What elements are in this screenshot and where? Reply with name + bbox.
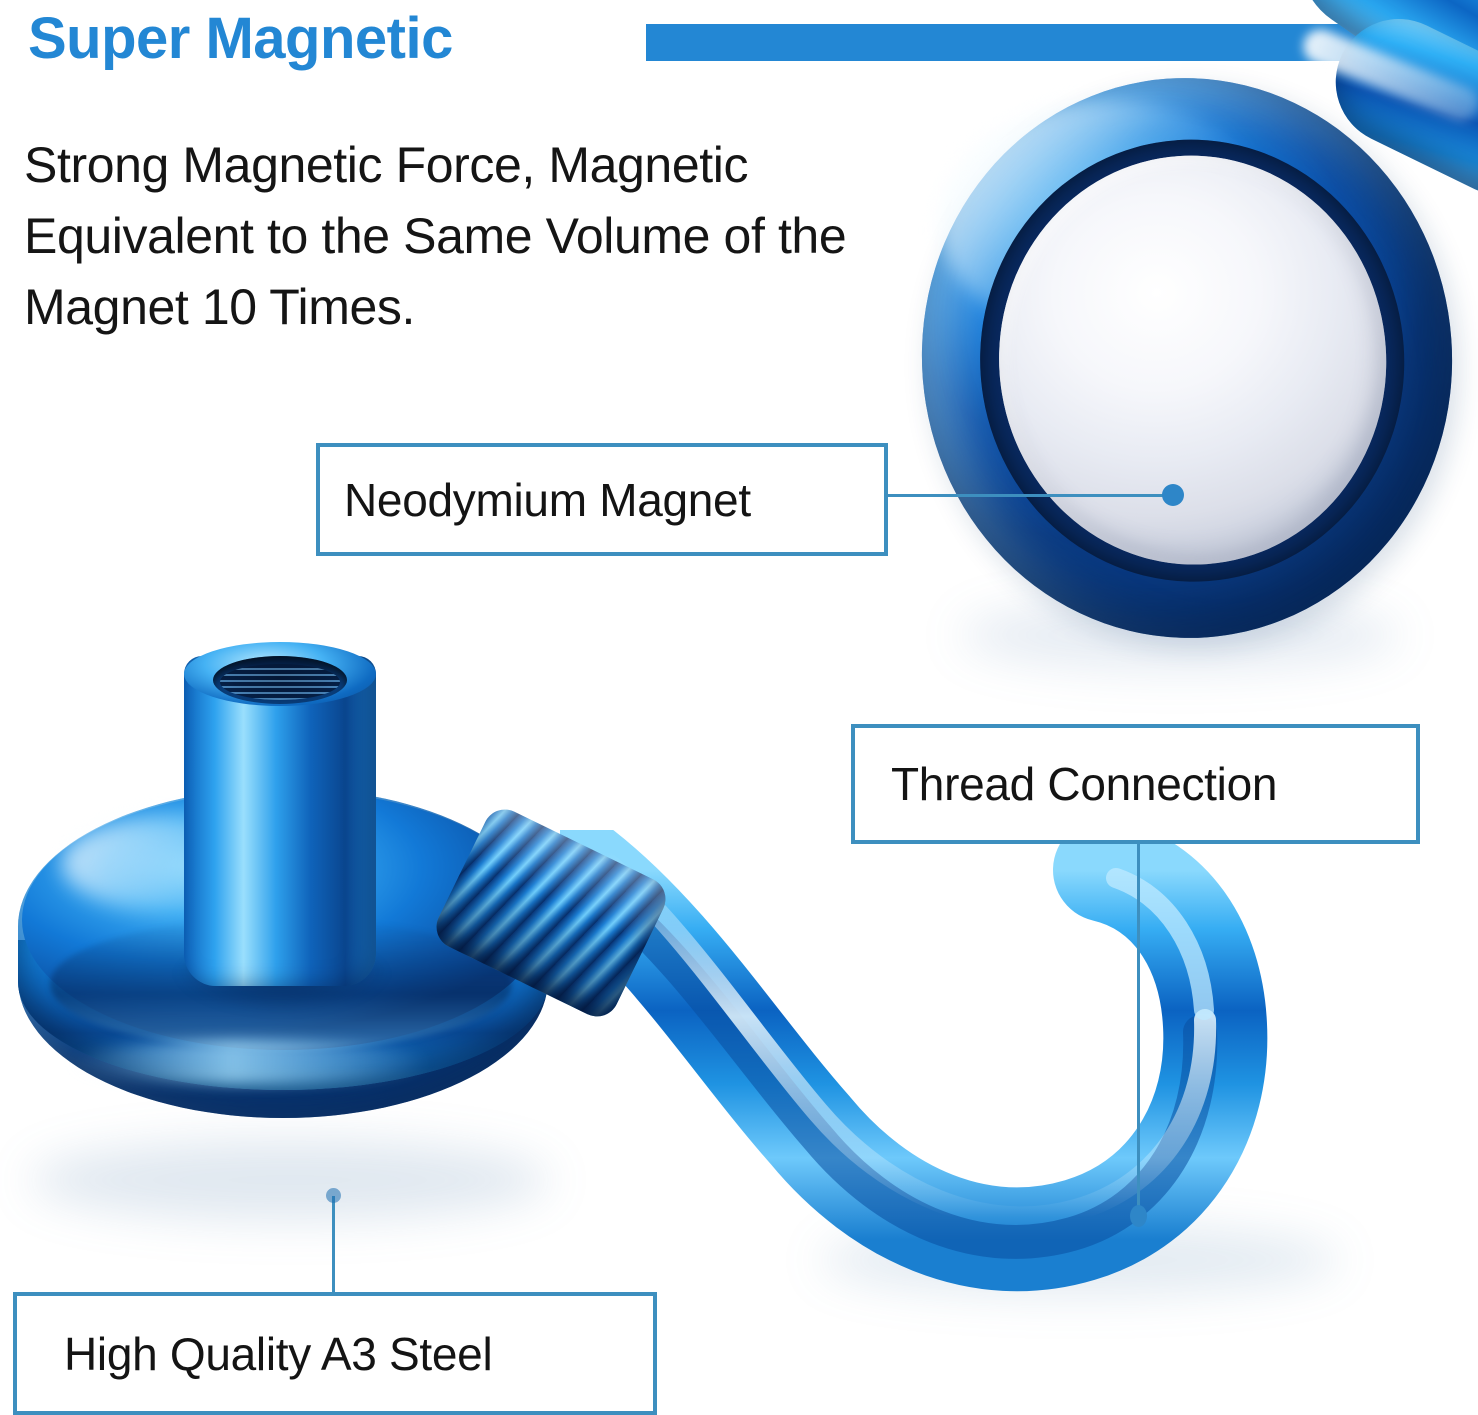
j-hook	[560, 830, 1460, 1330]
leader-line-steel	[332, 1196, 335, 1294]
description-text: Strong Magnetic Force, Magnetic Equivale…	[24, 130, 924, 343]
page-title: Super Magnetic	[28, 6, 453, 73]
stud-internal-threads	[220, 664, 340, 700]
anchor-dot-neodymium	[1162, 484, 1184, 506]
callout-label-neodymium: Neodymium Magnet	[344, 477, 751, 523]
magnet-base-bottom-shine	[70, 1040, 430, 1084]
callout-thread-connection: Thread Connection	[851, 724, 1420, 844]
leader-line-thread	[1137, 844, 1140, 1216]
callout-label-thread: Thread Connection	[891, 761, 1277, 807]
callout-neodymium-magnet: Neodymium Magnet	[316, 443, 888, 556]
anchor-dot-steel	[326, 1188, 341, 1203]
product-infographic: Super Magnetic Strong Magnetic Force, Ma…	[0, 0, 1478, 1415]
disc-magnet	[903, 60, 1471, 656]
anchor-dot-thread	[1130, 1205, 1147, 1227]
callout-label-steel: High Quality A3 Steel	[64, 1331, 492, 1377]
leader-line-neodymium	[886, 494, 1176, 497]
callout-high-quality-a3-steel: High Quality A3 Steel	[13, 1292, 657, 1415]
